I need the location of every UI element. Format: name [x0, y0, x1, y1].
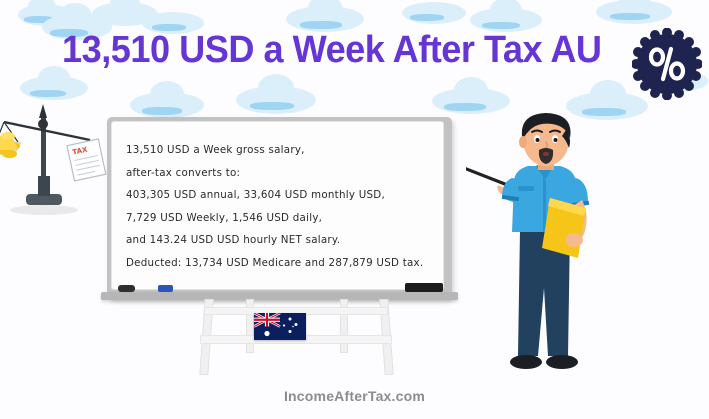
whiteboard-line: 403,305 USD annual, 33,604 USD monthly U…: [126, 184, 446, 207]
cloud-icon: [402, 2, 466, 24]
whiteboard-line: and 143.24 USD USD hourly NET salary.: [126, 229, 446, 252]
percent-badge-icon: [632, 28, 702, 100]
blue-marker-icon: [158, 285, 173, 292]
pointer-stick-icon: [466, 166, 510, 186]
presenter-character: [466, 112, 656, 374]
folder-icon: [542, 198, 586, 258]
australia-flag-icon: [254, 313, 306, 340]
cloud-icon: [432, 88, 510, 114]
cloud-icon: [20, 76, 88, 100]
whiteboard-surface: 13,510 USD a Week gross salary, after-ta…: [111, 121, 444, 290]
page-title: 13,510 USD a Week After Tax AU: [62, 22, 623, 78]
eraser-icon: [405, 283, 443, 292]
whiteboard-line: after-tax converts to:: [126, 162, 446, 185]
whiteboard-line: 13,510 USD a Week gross salary,: [126, 139, 446, 162]
whiteboard-text: 13,510 USD a Week gross salary, after-ta…: [126, 139, 446, 275]
infographic-canvas: 13,510 USD a Week After Tax AU: [0, 0, 709, 419]
black-marker-icon: [118, 285, 135, 292]
balance-scale-icon: TAX: [0, 98, 110, 220]
cloud-icon: [596, 0, 672, 24]
site-footer: IncomeAfterTax.com: [0, 388, 709, 404]
cloud-icon: [236, 86, 316, 114]
whiteboard-line: Deducted: 13,734 USD Medicare and 287,87…: [126, 252, 446, 275]
whiteboard: 13,510 USD a Week gross salary, after-ta…: [107, 117, 452, 299]
whiteboard-line: 7,729 USD Weekly, 1,546 USD daily,: [126, 207, 446, 230]
cloud-icon: [130, 92, 204, 118]
